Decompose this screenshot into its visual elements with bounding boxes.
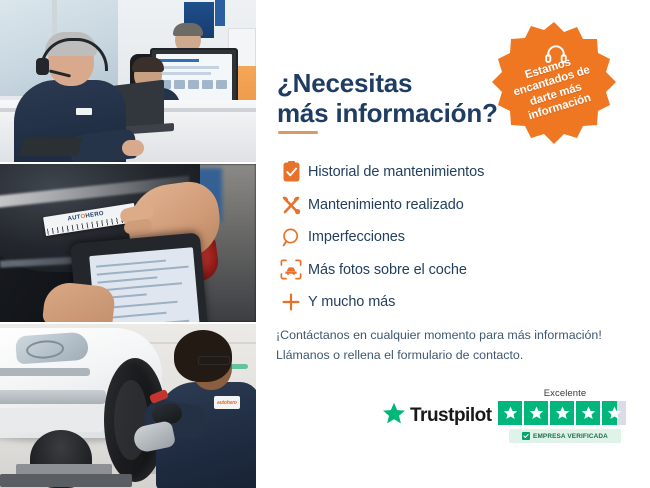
page-title-line-1: ¿Necesitas [277, 68, 412, 98]
trustpilot-logo[interactable]: Trustpilot [382, 402, 492, 430]
rating-star-4 [576, 401, 600, 425]
trustpilot-wordmark: Trustpilot [410, 405, 492, 427]
feature-item-imperfections: Imperfecciones [274, 221, 574, 254]
feature-label: Y mucho más [308, 294, 395, 310]
feature-label: Imperfecciones [308, 229, 405, 245]
feature-label: Historial de mantenimientos [308, 164, 484, 180]
ruler-logo-part3: HERO [85, 211, 104, 220]
rating-star-1 [498, 401, 522, 425]
plus-icon [274, 289, 308, 315]
trustpilot-widget[interactable]: Trustpilot Excelente [382, 388, 632, 448]
feature-item-much-more: Y mucho más [274, 286, 574, 319]
check-icon [522, 432, 530, 440]
feature-list: Historial de mantenimientos Mantenimient… [274, 156, 574, 319]
content-panel: ¿Necesitas más información? Estamos enca… [262, 0, 650, 488]
car-inspection-ruler-photo: AUTOHERO [0, 164, 256, 322]
rating-star-2 [524, 401, 548, 425]
photo-column: AUTOHERO [0, 0, 256, 488]
support-starburst-badge: Estamos encantados de darte más informac… [490, 18, 618, 146]
rating-star-5-partial [602, 401, 626, 425]
rating-star-3 [550, 401, 574, 425]
ruler-logo-part1: AUT [67, 214, 81, 222]
tools-cross-icon [274, 192, 308, 218]
feature-label: Más fotos sobre el coche [308, 262, 467, 278]
feature-label: Mantenimiento realizado [308, 197, 464, 213]
contact-text: ¡Contáctanos en cualquier momento para m… [276, 325, 636, 365]
contact-line-2: Llámanos o rellena el formulario de cont… [276, 345, 636, 365]
feature-item-more-photos: Más fotos sobre el coche [274, 254, 574, 287]
rating-label: Excelente [498, 388, 632, 399]
info-promo-card: AUTOHERO [0, 0, 650, 488]
clipboard-check-icon [274, 159, 308, 185]
star-rating [498, 401, 632, 425]
verified-badge: EMPRESA VERIFICADA [509, 429, 621, 443]
polo-logo-text: autohero [217, 400, 237, 406]
magnifier-icon [274, 224, 308, 250]
trustpilot-rating: Excelente [498, 388, 632, 443]
call-center-agents-photo [0, 0, 256, 162]
mechanic-wheel-photo: autohero [0, 324, 256, 488]
verified-text: EMPRESA VERIFICADA [533, 433, 608, 440]
trustpilot-star-icon [382, 402, 406, 430]
feature-item-maintenance-done: Mantenimiento realizado [274, 189, 574, 222]
contact-line-1: ¡Contáctanos en cualquier momento para m… [276, 325, 636, 345]
title-divider [278, 131, 318, 134]
feature-item-maintenance-history: Historial de mantenimientos [274, 156, 574, 189]
car-scan-icon [274, 257, 308, 283]
